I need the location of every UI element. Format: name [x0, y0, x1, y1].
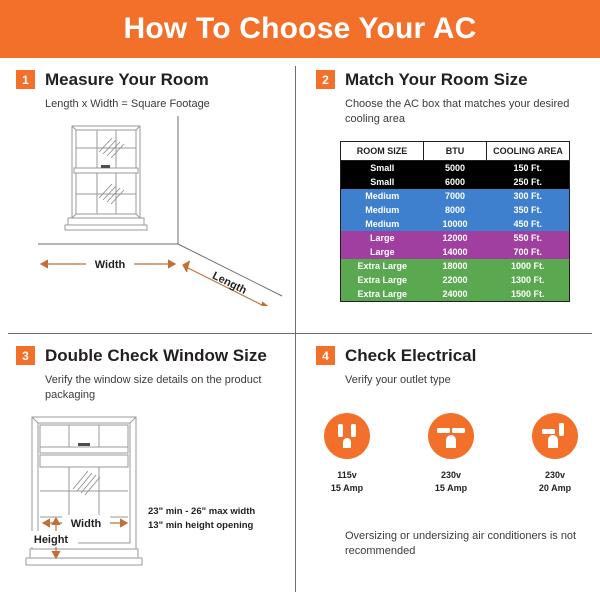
outlet-3-caption: 230v 20 Amp: [539, 469, 571, 495]
btu-cell-btu: 7000: [424, 189, 487, 203]
page-title: How To Choose Your AC: [123, 14, 476, 44]
col-header-cooling-area: COOLING AREA: [487, 141, 570, 160]
btu-cell-btu: 14000: [424, 245, 487, 259]
outlet-230v-15amp-icon: [427, 412, 475, 460]
step-3-title: Double Check Window Size: [45, 347, 267, 364]
step-3-heading: 3 Double Check Window Size: [0, 334, 295, 365]
btu-cell-btu: 12000: [424, 231, 487, 245]
step-panel-2: 2 Match Your Room Size Choose the AC box…: [296, 58, 600, 333]
btu-cell-cooling-area: 1000 Ft.: [487, 259, 570, 273]
btu-cell-cooling-area: 550 Ft.: [487, 231, 570, 245]
btu-cell-cooling-area: 450 Ft.: [487, 217, 570, 231]
window-note-line-2: 13" min height opening: [148, 519, 255, 534]
outlet-option-3: 230v 20 Amp: [517, 412, 593, 495]
btu-cell-cooling-area: 150 Ft.: [487, 160, 570, 175]
page-header: How To Choose Your AC: [0, 0, 600, 58]
room-width-label: Width: [95, 259, 126, 271]
outlet-3-amps: 20 Amp: [539, 482, 571, 495]
window-sketch-svg: Width Height: [0, 409, 295, 587]
outlet-1-amps: 15 Amp: [331, 482, 363, 495]
room-length-label: Length: [210, 270, 248, 297]
btu-table-row: Medium7000300 Ft.: [341, 189, 570, 203]
outlet-3-volts: 230v: [539, 469, 571, 482]
btu-cell-cooling-area: 300 Ft.: [487, 189, 570, 203]
btu-cell-cooling-area: 700 Ft.: [487, 245, 570, 259]
outlet-2-volts: 230v: [435, 469, 467, 482]
outlet-types-group: 115v 15 Amp 230v: [296, 412, 600, 495]
btu-cell-btu: 5000: [424, 160, 487, 175]
oversizing-footnote: Oversizing or undersizing air conditione…: [345, 529, 595, 560]
btu-table-header-row: ROOM SIZE BTU COOLING AREA: [341, 141, 570, 160]
outlet-option-2: 230v 15 Amp: [413, 412, 489, 495]
window-size-note: 23" min - 26" max width 13" min height o…: [148, 505, 255, 534]
outlet-option-1: 115v 15 Amp: [309, 412, 385, 495]
step-1-title: Measure Your Room: [45, 71, 209, 88]
btu-table-row: Extra Large220001300 Ft.: [341, 273, 570, 287]
steps-grid: 1 Measure Your Room Length x Width = Squ…: [0, 58, 600, 600]
btu-cell-room-size: Medium: [341, 217, 424, 231]
step-1-heading: 1 Measure Your Room: [0, 58, 295, 89]
btu-table-row: Extra Large240001500 Ft.: [341, 287, 570, 302]
btu-cell-cooling-area: 1500 Ft.: [487, 287, 570, 302]
step-4-subtitle: Verify your outlet type: [296, 373, 585, 388]
btu-cell-room-size: Small: [341, 160, 424, 175]
btu-cell-room-size: Medium: [341, 203, 424, 217]
step-panel-3: 3 Double Check Window Size Verify the wi…: [0, 334, 295, 600]
step-1-badge: 1: [16, 70, 35, 89]
col-header-room-size: ROOM SIZE: [341, 141, 424, 160]
window-height-label: Height: [34, 534, 69, 546]
step-4-title: Check Electrical: [345, 347, 476, 364]
room-sketch-svg: Width Length: [0, 116, 295, 306]
btu-table-body: Small5000150 Ft.Small6000250 Ft.Medium70…: [341, 160, 570, 301]
btu-table-row: Extra Large180001000 Ft.: [341, 259, 570, 273]
btu-cell-room-size: Large: [341, 245, 424, 259]
step-2-title: Match Your Room Size: [345, 71, 528, 88]
btu-table-row: Large12000550 Ft.: [341, 231, 570, 245]
step-3-subtitle: Verify the window size details on the pr…: [0, 373, 285, 403]
btu-table-head: ROOM SIZE BTU COOLING AREA: [341, 141, 570, 160]
btu-cell-room-size: Small: [341, 175, 424, 189]
step-4-badge: 4: [316, 346, 335, 365]
btu-cell-btu: 22000: [424, 273, 487, 287]
btu-cell-cooling-area: 250 Ft.: [487, 175, 570, 189]
btu-table-row: Large14000700 Ft.: [341, 245, 570, 259]
btu-cell-btu: 10000: [424, 217, 487, 231]
btu-table-row: Small6000250 Ft.: [341, 175, 570, 189]
btu-sizing-table: ROOM SIZE BTU COOLING AREA Small5000150 …: [340, 141, 570, 302]
btu-table-wrapper: ROOM SIZE BTU COOLING AREA Small5000150 …: [340, 141, 600, 302]
step-1-subtitle: Length x Width = Square Footage: [0, 97, 285, 112]
step-2-badge: 2: [316, 70, 335, 89]
btu-cell-btu: 18000: [424, 259, 487, 273]
window-note-line-1: 23" min - 26" max width: [148, 505, 255, 520]
btu-cell-room-size: Extra Large: [341, 259, 424, 273]
btu-cell-cooling-area: 350 Ft.: [487, 203, 570, 217]
btu-table-row: Small5000150 Ft.: [341, 160, 570, 175]
step-3-badge: 3: [16, 346, 35, 365]
window-size-diagram: Width Height 23" min - 26" max width 13"…: [0, 409, 295, 589]
btu-cell-room-size: Extra Large: [341, 273, 424, 287]
col-header-btu: BTU: [424, 141, 487, 160]
window-width-label: Width: [71, 518, 102, 530]
outlet-1-volts: 115v: [331, 469, 363, 482]
btu-table-row: Medium10000450 Ft.: [341, 217, 570, 231]
room-measure-diagram: Width Length: [0, 116, 295, 306]
btu-cell-room-size: Extra Large: [341, 287, 424, 302]
btu-cell-btu: 24000: [424, 287, 487, 302]
btu-cell-cooling-area: 1300 Ft.: [487, 273, 570, 287]
step-2-heading: 2 Match Your Room Size: [296, 58, 600, 89]
outlet-230v-20amp-icon: [531, 412, 579, 460]
btu-table-row: Medium8000350 Ft.: [341, 203, 570, 217]
step-panel-1: 1 Measure Your Room Length x Width = Squ…: [0, 58, 295, 333]
btu-cell-room-size: Medium: [341, 189, 424, 203]
infographic-page: How To Choose Your AC 1 Measure Your Roo…: [0, 0, 600, 600]
step-2-subtitle: Choose the AC box that matches your desi…: [296, 97, 585, 127]
btu-cell-room-size: Large: [341, 231, 424, 245]
btu-cell-btu: 8000: [424, 203, 487, 217]
step-panel-4: 4 Check Electrical Verify your outlet ty…: [296, 334, 600, 600]
outlet-2-caption: 230v 15 Amp: [435, 469, 467, 495]
outlet-115v-15amp-icon: [323, 412, 371, 460]
step-4-heading: 4 Check Electrical: [296, 334, 600, 365]
btu-cell-btu: 6000: [424, 175, 487, 189]
outlet-1-caption: 115v 15 Amp: [331, 469, 363, 495]
outlet-2-amps: 15 Amp: [435, 482, 467, 495]
